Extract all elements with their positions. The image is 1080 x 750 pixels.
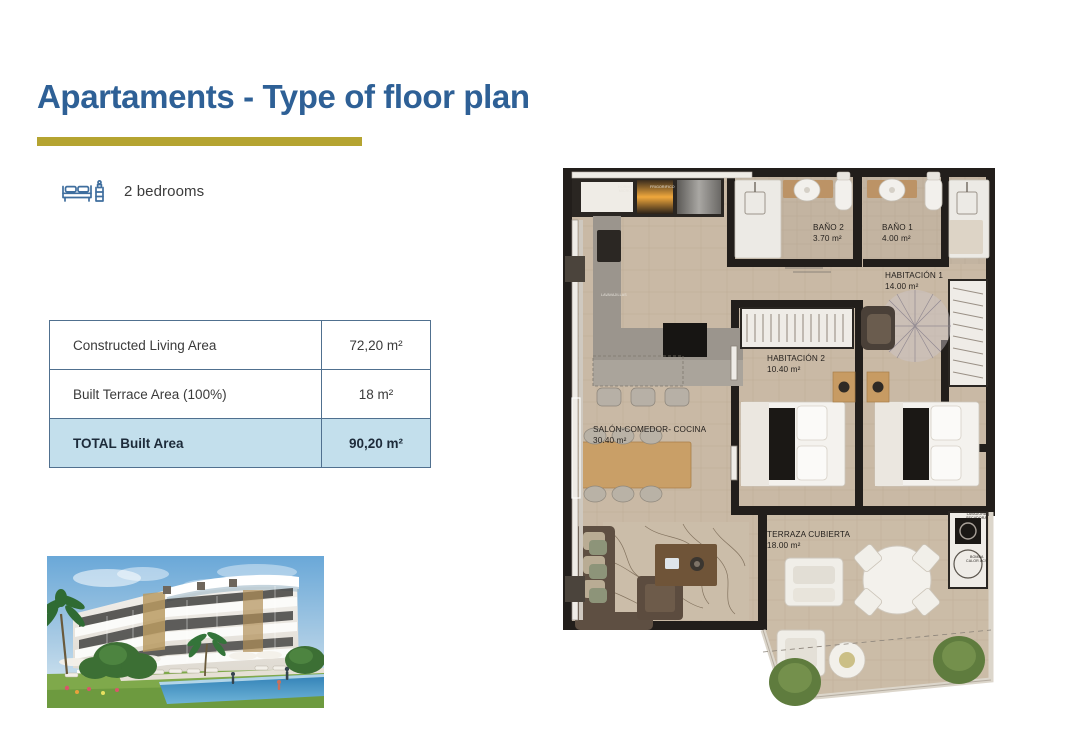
floor-plan-drawing: BAÑO 23.70 m²BAÑO 14.00 m²HABITACIÓN 114… (545, 160, 1025, 720)
area-row-label: Built Terrace Area (100%) (50, 370, 322, 419)
bed-icon (60, 174, 106, 208)
area-row-value: 72,20 m² (322, 321, 431, 370)
table-row: TOTAL Built Area90,20 m² (50, 419, 431, 468)
area-table-body: Constructed Living Area72,20 m²Built Ter… (50, 321, 431, 468)
page-title: Apartaments - Type of floor plan (37, 78, 530, 116)
area-row-label: Constructed Living Area (50, 321, 322, 370)
table-row: Constructed Living Area72,20 m² (50, 321, 431, 370)
building-render-image (47, 556, 324, 708)
area-summary-table: Constructed Living Area72,20 m²Built Ter… (49, 320, 431, 468)
area-row-label: TOTAL Built Area (50, 419, 322, 468)
title-underline-rule (37, 137, 362, 146)
area-row-value: 18 m² (322, 370, 431, 419)
table-row: Built Terrace Area (100%)18 m² (50, 370, 431, 419)
bedrooms-badge: 2 bedrooms (60, 174, 204, 208)
area-row-value: 90,20 m² (322, 419, 431, 468)
bedrooms-label: 2 bedrooms (124, 183, 204, 200)
